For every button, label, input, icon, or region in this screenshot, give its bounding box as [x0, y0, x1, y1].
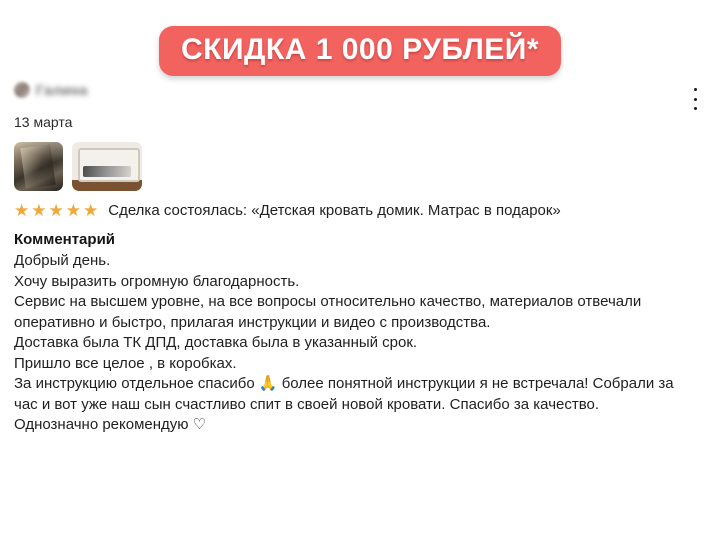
comment-line: Доставка была ТК ДПД, доставка была в ук… — [14, 333, 708, 354]
comment-line: Хочу выразить огромную благодарность. — [14, 272, 708, 293]
star-icon: ★ — [49, 202, 64, 219]
promo-discount-banner: СКИДКА 1 000 РУБЛЕЙ* — [159, 26, 561, 76]
avito-logo-circle-1 — [608, 494, 619, 505]
rating-stars: ★ ★ ★ ★ ★ — [14, 202, 98, 219]
star-icon: ★ — [31, 202, 46, 219]
avito-logo-circle-3 — [609, 506, 617, 514]
review-photo-thumbnail[interactable] — [14, 142, 63, 191]
deal-status-text: Сделка состоялась: «Детская кровать доми… — [108, 202, 561, 219]
avatar — [14, 82, 30, 98]
comment-line: час и вот уже наш сын счастливо спит в с… — [14, 395, 708, 416]
comment-line: Добрый день. — [14, 251, 708, 272]
avito-logo-circle-4 — [620, 504, 631, 515]
kebab-dot-3 — [694, 107, 697, 110]
kebab-menu-icon[interactable] — [686, 86, 704, 112]
comment-line: Пришло все целое , в коробках. — [14, 354, 708, 375]
star-icon: ★ — [83, 202, 98, 219]
kebab-dot-1 — [694, 88, 697, 91]
star-icon: ★ — [14, 202, 29, 219]
avito-logo-circle-2 — [620, 495, 628, 503]
promo-banner-container: СКИДКА 1 000 РУБЛЕЙ* — [0, 26, 720, 76]
avito-logo-icon — [608, 494, 634, 516]
kebab-dot-2 — [694, 98, 697, 101]
star-icon: ★ — [66, 202, 81, 219]
comment-line: Сервис на высшем уровне, на все вопросы … — [14, 292, 708, 313]
review-date: 13 марта — [14, 114, 720, 130]
review-photos — [14, 142, 720, 191]
comment-line: оперативно и быстро, прилагая инструкции… — [14, 313, 708, 334]
review-comment: Комментарий Добрый день. Хочу выразить о… — [14, 231, 708, 436]
avito-watermark-text: Avito — [638, 491, 702, 518]
review-author[interactable]: Галина — [14, 80, 720, 100]
avito-watermark: Avito — [608, 491, 702, 518]
review-author-name: Галина — [36, 82, 88, 98]
review-card: Галина 13 марта ★ ★ ★ ★ ★ Сделка состоял… — [0, 80, 720, 436]
rating-row: ★ ★ ★ ★ ★ Сделка состоялась: «Детская кр… — [14, 202, 720, 219]
review-header: Галина — [0, 80, 720, 110]
comment-heading: Комментарий — [14, 231, 708, 248]
comment-line: Однозначно рекомендую ♡ — [14, 415, 708, 436]
review-photo-thumbnail[interactable] — [72, 142, 142, 191]
comment-line: За инструкцию отдельное спасибо 🙏 более … — [14, 374, 708, 395]
